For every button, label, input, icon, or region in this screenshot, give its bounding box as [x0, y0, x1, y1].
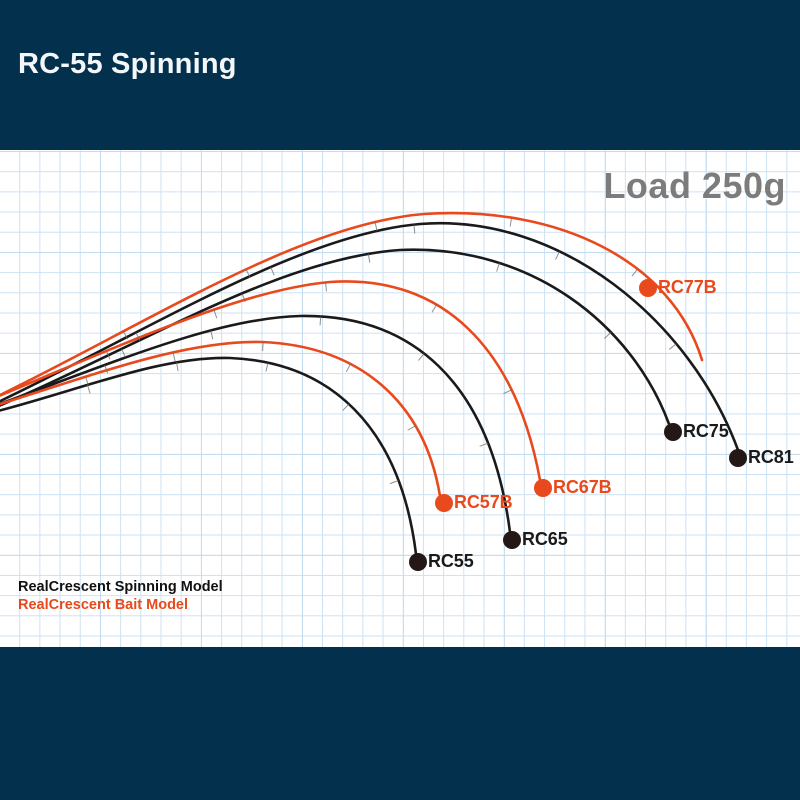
rod-guide-tick	[173, 352, 175, 361]
endpoint-dot-icon	[409, 553, 427, 571]
rod-curve-rc75	[0, 250, 669, 424]
rod-guide-tick	[343, 404, 349, 411]
rod-guide-tick	[326, 282, 327, 291]
endpoint-rc57b[interactable]: RC57B	[435, 492, 513, 513]
rod-guide-tick	[375, 222, 377, 231]
endpoint-label: RC65	[522, 529, 568, 550]
rod-guide-tick	[390, 480, 398, 483]
rod-guide-tick	[368, 254, 369, 263]
endpoint-dot-icon	[503, 531, 521, 549]
endpoint-dot-icon	[639, 279, 657, 297]
endpoint-label: RC55	[428, 551, 474, 572]
header-bar: RC-55 Spinning	[0, 0, 800, 150]
rod-curves-plot	[0, 150, 800, 647]
endpoint-label: RC67B	[553, 477, 612, 498]
endpoint-label: RC81	[748, 447, 794, 468]
endpoint-rc65[interactable]: RC65	[503, 529, 568, 550]
endpoint-label: RC57B	[454, 492, 513, 513]
rod-curve-rc57b	[0, 342, 440, 496]
rod-curve-rc55	[0, 358, 416, 554]
endpoint-dot-icon	[729, 449, 747, 467]
rod-guide-tick	[480, 443, 488, 446]
rod-guide-tick	[669, 344, 676, 350]
endpoint-rc81[interactable]: RC81	[729, 447, 794, 468]
rod-guide-tick	[418, 353, 424, 360]
legend-item-bait: RealCrescent Bait Model	[18, 596, 223, 615]
rod-guide-tick	[414, 225, 415, 234]
curve-series-group	[0, 213, 738, 554]
rod-guide-tick	[271, 267, 275, 275]
rod-guide-tick	[211, 330, 213, 339]
endpoint-dot-icon	[435, 494, 453, 512]
endpoint-rc67b[interactable]: RC67B	[534, 477, 612, 498]
rod-guide-tick	[510, 218, 511, 227]
endpoint-rc75[interactable]: RC75	[664, 421, 729, 442]
rod-guide-tick	[121, 349, 125, 357]
rod-guide-tick	[408, 426, 416, 430]
page-title: RC-55 Spinning	[18, 48, 237, 81]
legend-item-spinning: RealCrescent Spinning Model	[18, 578, 223, 597]
endpoint-rc77b[interactable]: RC77B	[639, 277, 717, 298]
chart-panel: Load 250g RC77BRC75RC81RC67BRC57BRC65RC5…	[0, 150, 800, 647]
rod-curve-rc65	[0, 316, 510, 532]
rod-guide-tick	[604, 332, 611, 338]
rod-guide-tick	[632, 269, 638, 276]
rod-guide-tick	[432, 305, 437, 313]
rod-guide-tick	[266, 363, 268, 372]
endpoint-label: RC77B	[658, 277, 717, 298]
legend: RealCrescent Spinning Model RealCrescent…	[18, 578, 223, 615]
rod-guide-tick	[88, 385, 91, 394]
endpoint-label: RC75	[683, 421, 729, 442]
rod-guide-tick	[556, 251, 560, 259]
footer-bar	[0, 647, 800, 800]
rod-guide-tick	[346, 364, 350, 372]
rod-guide-tick	[320, 316, 321, 325]
rod-guide-tick	[497, 263, 500, 272]
rod-guide-tick	[214, 310, 217, 319]
rod-guide-tick	[503, 390, 511, 394]
rod-guide-tick	[177, 362, 178, 371]
endpoint-rc55[interactable]: RC55	[409, 551, 474, 572]
endpoint-dot-icon	[664, 423, 682, 441]
endpoint-dot-icon	[534, 479, 552, 497]
rod-curve-rc67b	[0, 281, 540, 480]
rod-action-diagram: RC-55 Spinning Load 250g RC77BRC75RC81RC…	[0, 0, 800, 800]
